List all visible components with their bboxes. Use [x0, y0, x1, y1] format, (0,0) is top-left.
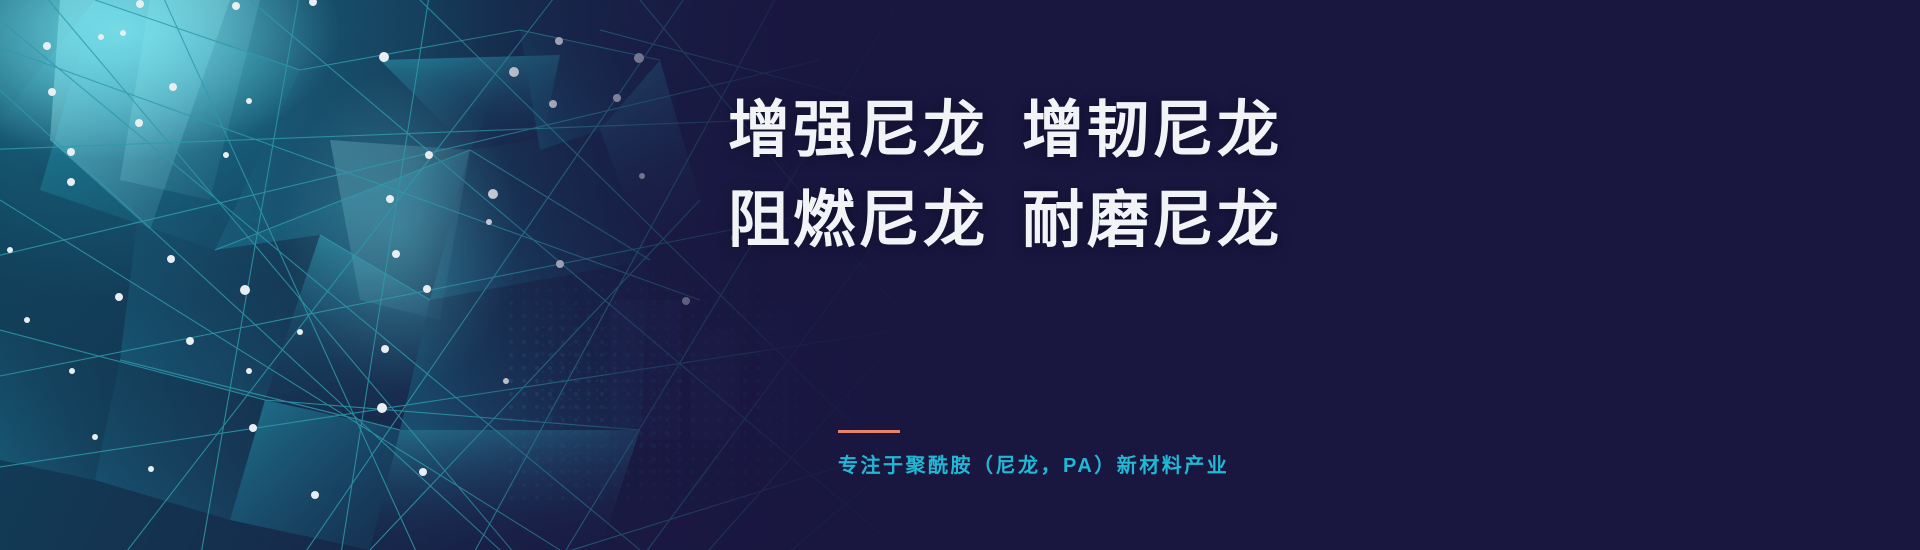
headline-2-left: 阻燃尼龙: [728, 186, 988, 255]
tagline-text: 专注于聚酰胺（尼龙，PA）新材料产业: [838, 449, 1229, 478]
tagline-group: 专注于聚酰胺（尼龙，PA）新材料产业: [838, 430, 1229, 478]
headline-group: 增强尼龙增韧尼龙 阻燃尼龙耐磨尼龙: [728, 86, 1488, 266]
headline-2-right: 耐磨尼龙: [1022, 186, 1282, 255]
headline-line-2: 阻燃尼龙耐磨尼龙: [728, 176, 1488, 266]
hero-banner: 增强尼龙增韧尼龙 阻燃尼龙耐磨尼龙 专注于聚酰胺（尼龙，PA）新材料产业: [0, 0, 1920, 550]
tagline-divider: [838, 430, 900, 433]
headline-1-right: 增韧尼龙: [1022, 96, 1282, 165]
headline-line-1: 增强尼龙增韧尼龙: [728, 86, 1488, 176]
headline-1-left: 增强尼龙: [728, 96, 988, 165]
